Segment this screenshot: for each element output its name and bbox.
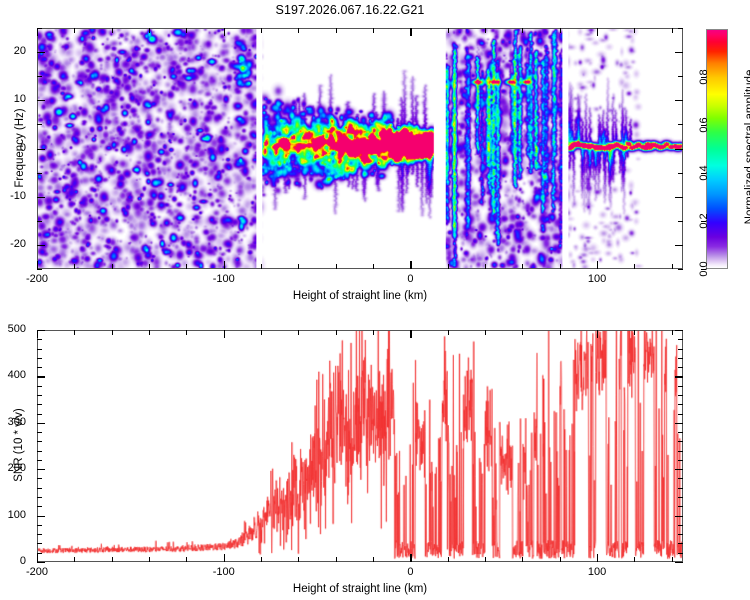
snr-y-tick-label: 500 xyxy=(0,323,26,335)
axis-tick xyxy=(37,553,42,554)
axis-tick xyxy=(678,534,683,535)
axis-tick xyxy=(522,557,523,562)
axis-tick xyxy=(37,124,42,125)
axis-tick xyxy=(298,557,299,562)
axis-tick xyxy=(37,395,42,396)
spectrogram-y-axis-label: Frequency (Hz) xyxy=(14,103,26,193)
axis-tick xyxy=(261,28,262,33)
axis-tick xyxy=(597,330,598,338)
colorbar-gradient xyxy=(707,30,727,268)
axis-tick xyxy=(672,330,673,335)
axis-tick xyxy=(37,376,45,377)
axis-tick xyxy=(485,557,486,562)
axis-tick xyxy=(672,28,673,33)
axis-tick xyxy=(74,557,75,562)
axis-tick xyxy=(186,28,187,33)
axis-tick xyxy=(261,264,262,269)
spectrogram-y-tick-label: 20 xyxy=(0,45,26,57)
spectrogram-x-axis-label: Height of straight line (km) xyxy=(37,290,683,302)
axis-tick xyxy=(37,554,38,562)
axis-tick xyxy=(37,28,38,36)
axis-tick xyxy=(560,330,561,335)
axis-tick xyxy=(37,525,42,526)
axis-tick xyxy=(336,264,337,269)
axis-tick xyxy=(37,245,45,246)
snr-x-axis-label: Height of straight line (km) xyxy=(37,583,683,595)
axis-tick xyxy=(37,469,45,470)
axis-tick xyxy=(678,367,683,368)
axis-tick xyxy=(37,330,38,338)
axis-tick xyxy=(37,423,45,424)
spectrogram-image xyxy=(38,29,682,268)
axis-tick xyxy=(37,497,42,498)
axis-tick xyxy=(634,28,635,33)
axis-tick xyxy=(678,349,683,350)
axis-tick xyxy=(373,557,374,562)
axis-tick xyxy=(597,554,598,562)
axis-tick xyxy=(678,124,683,125)
axis-tick xyxy=(448,330,449,335)
axis-tick xyxy=(37,149,45,150)
axis-tick xyxy=(678,269,683,270)
axis-tick xyxy=(112,264,113,269)
axis-tick xyxy=(678,404,683,405)
axis-tick xyxy=(678,543,683,544)
axis-tick xyxy=(678,221,683,222)
spectrogram-y-tick-label: -20 xyxy=(0,238,26,250)
axis-tick xyxy=(186,330,187,335)
axis-tick xyxy=(522,330,523,335)
axis-tick xyxy=(37,28,42,29)
axis-tick xyxy=(675,516,683,517)
snr-y-tick-label: 100 xyxy=(0,509,26,521)
axis-tick xyxy=(37,100,45,101)
axis-tick xyxy=(224,330,225,338)
axis-tick xyxy=(261,557,262,562)
snr-y-tick-label: 400 xyxy=(0,369,26,381)
axis-tick xyxy=(74,264,75,269)
axis-tick xyxy=(336,28,337,33)
snr-y-tick-label: 0 xyxy=(0,555,26,567)
axis-tick xyxy=(560,264,561,269)
axis-tick xyxy=(634,264,635,269)
axis-tick xyxy=(678,441,683,442)
axis-tick xyxy=(186,264,187,269)
axis-tick xyxy=(224,261,225,269)
axis-tick xyxy=(373,330,374,335)
axis-tick xyxy=(37,562,45,563)
axis-tick xyxy=(485,264,486,269)
axis-tick xyxy=(37,414,42,415)
axis-tick xyxy=(37,52,45,53)
colorbar-tick-label: 0.2 xyxy=(698,205,710,237)
axis-tick xyxy=(678,525,683,526)
spectrogram-x-tick-label: 100 xyxy=(575,273,619,285)
axis-tick xyxy=(634,557,635,562)
axis-tick xyxy=(37,221,42,222)
axis-tick xyxy=(675,376,683,377)
figure-root: S197.2026.067.16.22.G21 -200-10001002010… xyxy=(0,0,750,600)
axis-tick xyxy=(37,367,42,368)
axis-tick xyxy=(37,543,42,544)
axis-tick xyxy=(373,28,374,33)
axis-tick xyxy=(298,264,299,269)
axis-tick xyxy=(149,264,150,269)
snr-line-plot xyxy=(38,331,682,561)
axis-tick xyxy=(37,339,42,340)
axis-tick xyxy=(112,28,113,33)
axis-tick xyxy=(410,554,411,562)
axis-tick xyxy=(678,432,683,433)
axis-tick xyxy=(37,506,42,507)
axis-tick xyxy=(373,264,374,269)
colorbar-tick-label: 0.4 xyxy=(698,157,710,189)
spectrogram-x-tick-label: -200 xyxy=(15,273,59,285)
axis-tick xyxy=(485,28,486,33)
spectrogram-x-tick-label: -100 xyxy=(202,273,246,285)
axis-tick xyxy=(560,28,561,33)
snr-panel xyxy=(37,330,683,562)
axis-tick xyxy=(675,149,683,150)
axis-tick xyxy=(678,553,683,554)
axis-tick xyxy=(37,432,42,433)
axis-tick xyxy=(37,173,42,174)
axis-tick xyxy=(112,330,113,335)
axis-tick xyxy=(678,395,683,396)
axis-tick xyxy=(560,557,561,562)
axis-tick xyxy=(149,330,150,335)
axis-tick xyxy=(678,506,683,507)
axis-tick xyxy=(675,562,683,563)
axis-tick xyxy=(675,245,683,246)
axis-tick xyxy=(675,330,683,331)
axis-tick xyxy=(522,28,523,33)
axis-tick xyxy=(448,557,449,562)
axis-tick xyxy=(37,460,42,461)
figure-title: S197.2026.067.16.22.G21 xyxy=(0,3,700,17)
axis-tick xyxy=(678,76,683,77)
axis-tick xyxy=(678,451,683,452)
axis-tick xyxy=(37,349,42,350)
axis-tick xyxy=(597,261,598,269)
spectrogram-x-tick-label: 0 xyxy=(388,273,432,285)
axis-tick xyxy=(678,339,683,340)
axis-tick xyxy=(37,330,45,331)
axis-tick xyxy=(522,264,523,269)
axis-tick xyxy=(37,441,42,442)
axis-tick xyxy=(678,497,683,498)
axis-tick xyxy=(634,330,635,335)
axis-tick xyxy=(112,557,113,562)
axis-tick xyxy=(37,269,42,270)
axis-tick xyxy=(410,28,411,36)
axis-tick xyxy=(485,330,486,335)
axis-tick xyxy=(37,404,42,405)
axis-tick xyxy=(675,52,683,53)
axis-tick xyxy=(336,557,337,562)
axis-tick xyxy=(74,330,75,335)
axis-tick xyxy=(224,28,225,36)
snr-x-tick-label: -100 xyxy=(202,566,246,578)
axis-tick xyxy=(37,451,42,452)
axis-tick xyxy=(336,330,337,335)
axis-tick xyxy=(410,261,411,269)
axis-tick xyxy=(37,488,42,489)
axis-tick xyxy=(675,197,683,198)
axis-tick xyxy=(261,330,262,335)
axis-tick xyxy=(678,414,683,415)
axis-tick xyxy=(186,557,187,562)
axis-tick xyxy=(37,197,45,198)
axis-tick xyxy=(149,28,150,33)
colorbar-label: Normalized spectral amplitude xyxy=(744,67,750,227)
axis-tick xyxy=(678,460,683,461)
axis-tick xyxy=(37,534,42,535)
axis-tick xyxy=(675,469,683,470)
axis-tick xyxy=(74,28,75,33)
axis-tick xyxy=(675,423,683,424)
axis-tick xyxy=(37,261,38,269)
axis-tick xyxy=(678,478,683,479)
axis-tick xyxy=(678,173,683,174)
axis-tick xyxy=(678,386,683,387)
colorbar-tick-label: 0.0 xyxy=(698,253,710,285)
axis-tick xyxy=(37,76,42,77)
colorbar-tick-label: 0.8 xyxy=(698,61,710,93)
axis-tick xyxy=(448,264,449,269)
snr-x-tick-label: 0 xyxy=(388,566,432,578)
axis-tick xyxy=(410,330,411,338)
axis-tick xyxy=(597,28,598,36)
axis-tick xyxy=(37,358,42,359)
axis-tick xyxy=(678,488,683,489)
axis-tick xyxy=(224,554,225,562)
axis-tick xyxy=(298,28,299,33)
axis-tick xyxy=(678,358,683,359)
snr-x-tick-label: -200 xyxy=(15,566,59,578)
axis-tick xyxy=(37,478,42,479)
spectrogram-panel xyxy=(37,28,683,269)
axis-tick xyxy=(672,264,673,269)
axis-tick xyxy=(298,330,299,335)
axis-tick xyxy=(678,28,683,29)
axis-tick xyxy=(672,557,673,562)
axis-tick xyxy=(448,28,449,33)
axis-tick xyxy=(37,516,45,517)
axis-tick xyxy=(675,100,683,101)
colorbar-tick-label: 0.6 xyxy=(698,109,710,141)
snr-y-axis-label: SNR (10 * v/v) xyxy=(13,399,25,491)
snr-x-tick-label: 100 xyxy=(575,566,619,578)
axis-tick xyxy=(37,386,42,387)
axis-tick xyxy=(149,557,150,562)
